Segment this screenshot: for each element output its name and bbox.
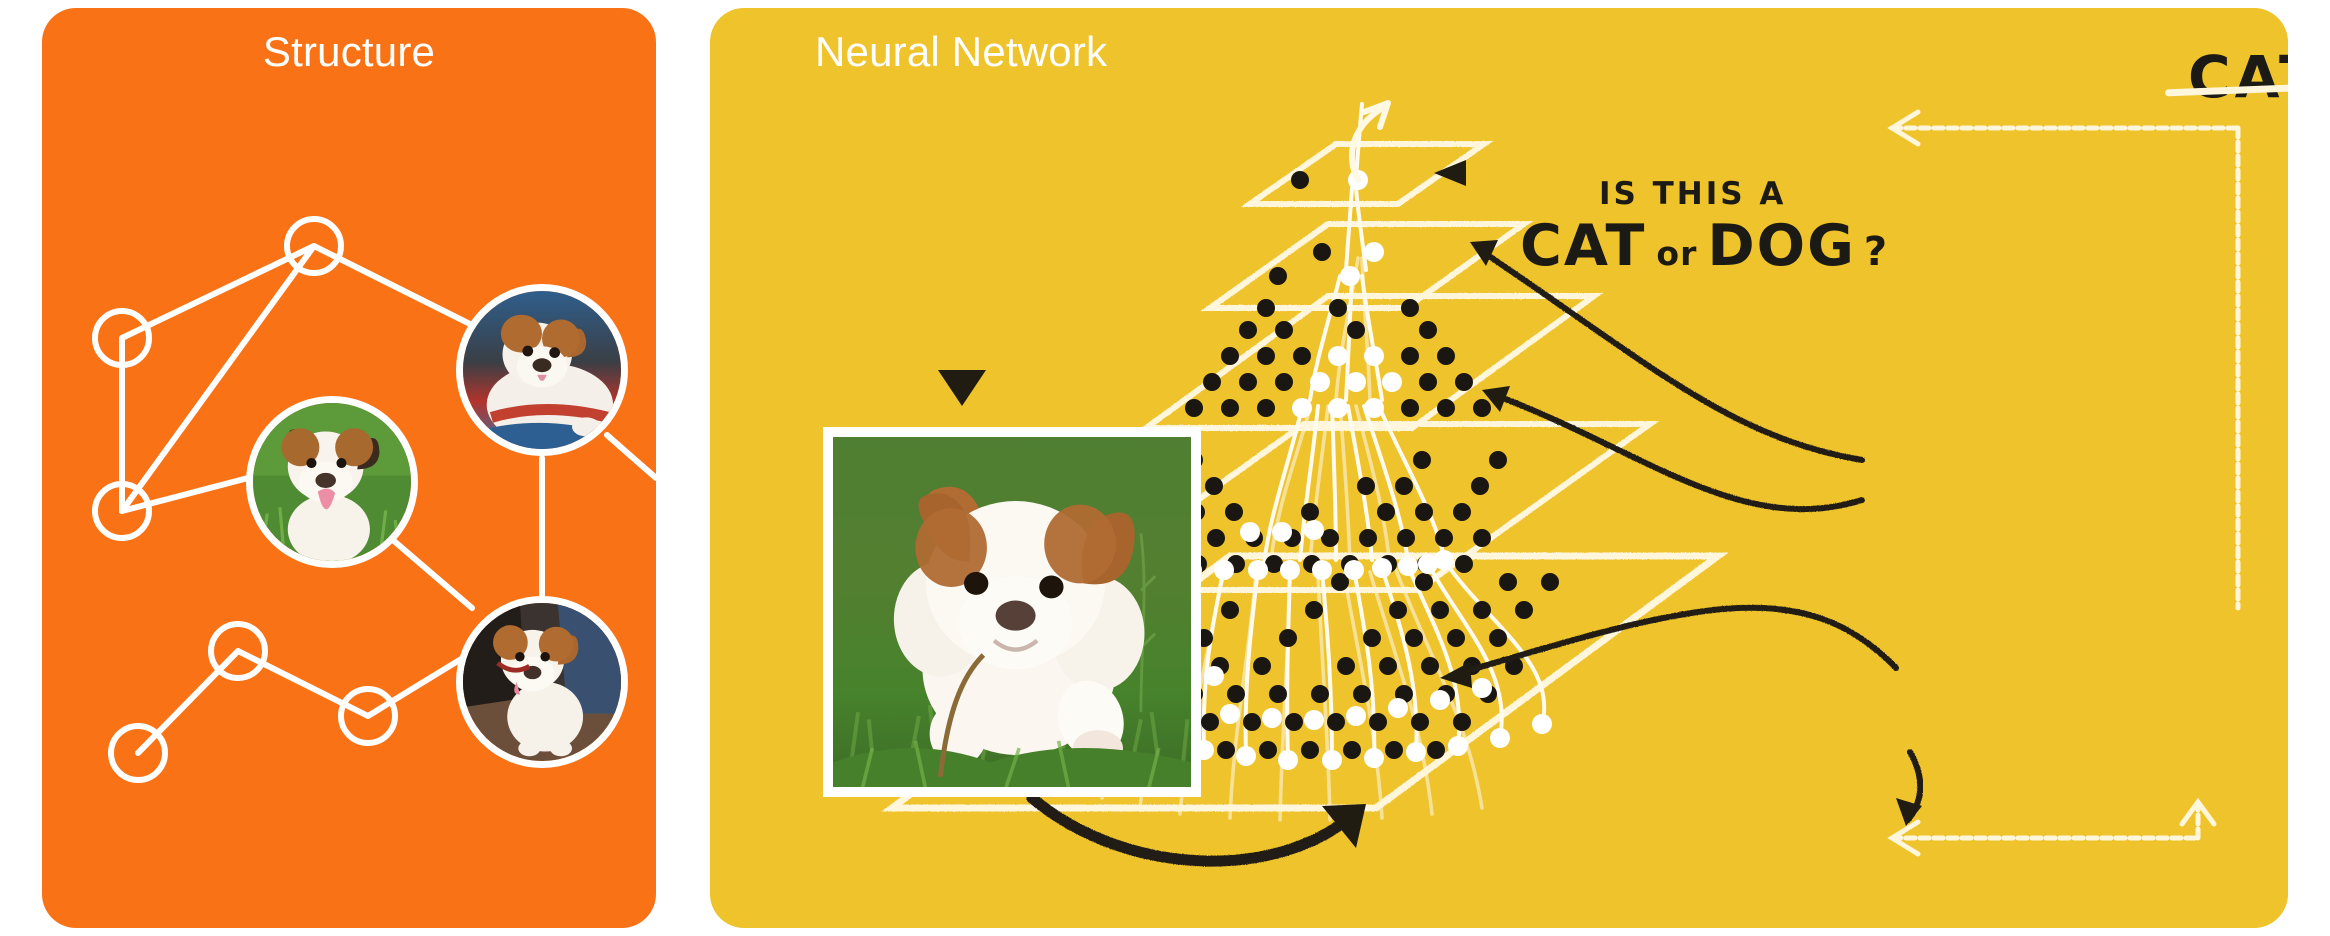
output-layer-neurons — [1291, 170, 1368, 190]
input-layer-callout-arrow — [1440, 608, 1896, 688]
structure-photo-node-bulldog-on-rug[interactable] — [456, 284, 628, 456]
question-cat-word: CAT — [1520, 213, 1646, 279]
input-photo-frame[interactable] — [823, 427, 1201, 797]
output-layer-plane[interactable] — [1250, 144, 1484, 204]
hidden-layer-3-neurons — [1269, 242, 1384, 286]
graph-node-2[interactable] — [95, 311, 149, 365]
bulldog-puppy-illustration — [463, 603, 621, 761]
input-layer-label-hook-arrow — [1896, 752, 1922, 826]
question-line-2: CATorDOG? — [1520, 213, 1889, 279]
hidden-layer-2-plane[interactable] — [1146, 296, 1594, 428]
edge-n6-pbottom — [368, 656, 466, 716]
output-neuron-dog-activated — [1348, 170, 1368, 190]
edge-n5-n4 — [138, 651, 238, 753]
structure-panel-title: Structure — [42, 28, 656, 76]
structure-panel: Structure — [42, 8, 656, 928]
deep-network-bracket — [1892, 112, 2238, 854]
edge-n2-n1 — [122, 246, 314, 338]
hidden-layer-3-activated-neurons — [1340, 242, 1384, 286]
question-line-1: IS THIS A — [1599, 176, 1786, 212]
output-to-dog-arrow — [1352, 103, 1388, 180]
neural-network-panel: Neural Network IS THIS A CATorDOG? CAT D… — [710, 8, 2288, 928]
neural-network-panel-title: Neural Network — [815, 28, 1107, 76]
photo-to-network-arrow — [1032, 798, 1366, 861]
down-arrow-icon — [938, 296, 986, 406]
structure-photo-node-bulldog-puppy[interactable] — [456, 596, 628, 768]
input-photo — [833, 437, 1191, 787]
graph-node-6[interactable] — [341, 689, 395, 743]
bulldog-rug-illustration — [463, 291, 621, 449]
output-neuron-cat — [1291, 171, 1309, 189]
edge-n4-n6 — [238, 651, 368, 716]
hidden-layer-3-plane[interactable] — [1210, 224, 1524, 308]
graph-node-4[interactable] — [211, 624, 265, 678]
hidden-layer-2-activated-neurons — [1292, 346, 1402, 418]
bulldog-puppy-on-grass-illustration — [833, 437, 1191, 787]
graph-node-5[interactable] — [111, 726, 165, 780]
edge-n3-pmid — [122, 478, 248, 511]
hidden-layer-2-neurons — [1185, 299, 1491, 418]
structure-photo-node-bulldog-on-grass[interactable] — [246, 396, 418, 568]
question-or-word: or — [1646, 234, 1707, 273]
verdict-cat-label: CAT — [2188, 43, 2288, 111]
slide-canvas: Structure — [0, 0, 2330, 936]
question-dog-word: DOG — [1707, 213, 1856, 279]
bulldog-grass-illustration — [253, 403, 411, 561]
edge-n1-ptop — [314, 246, 474, 326]
graph-node-1[interactable] — [287, 219, 341, 273]
activated-neurons-callout-arrows — [1470, 240, 1862, 509]
question-mark: ? — [1856, 229, 1889, 275]
graph-node-3[interactable] — [95, 484, 149, 538]
